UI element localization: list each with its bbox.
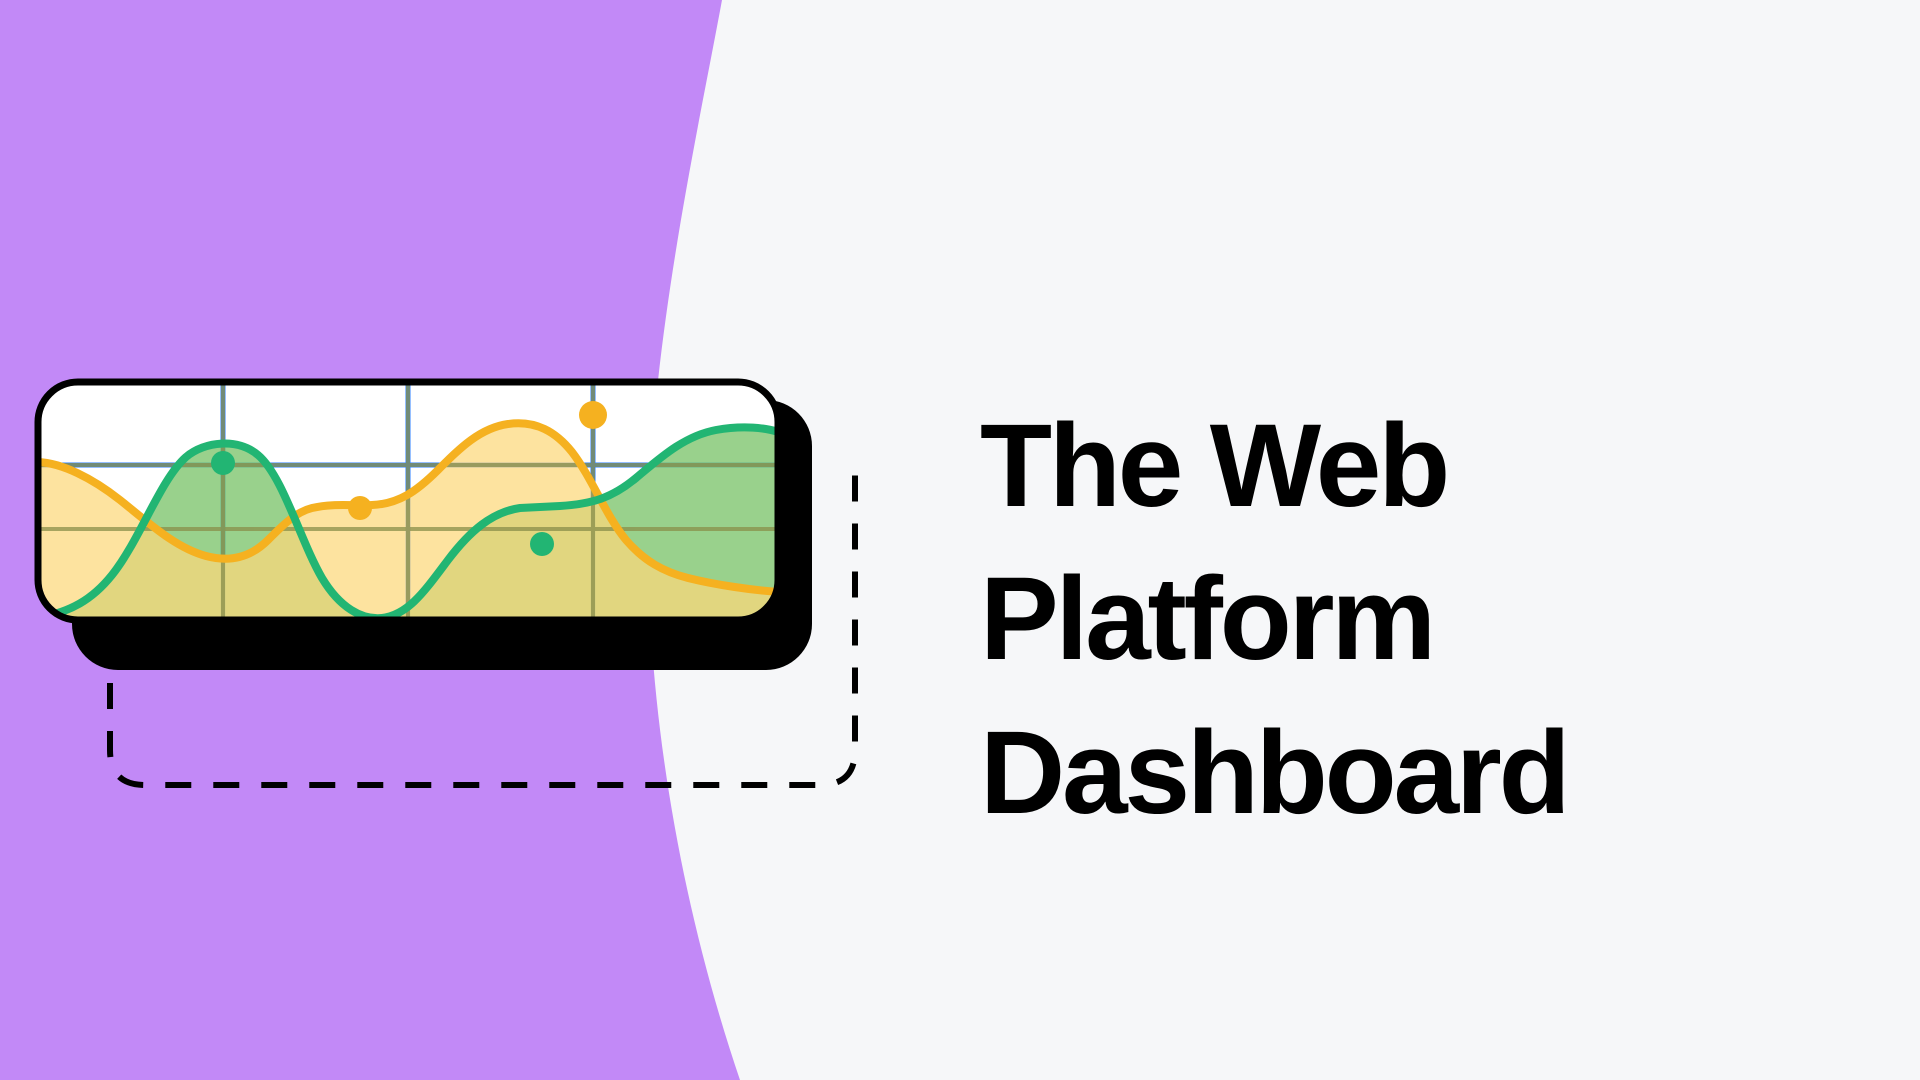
data-point-green-1 <box>211 451 235 475</box>
hero-stage: The Web Platform Dashboard <box>0 0 1920 1080</box>
page-title: The Web Platform Dashboard <box>980 390 1740 850</box>
data-point-green-2 <box>530 532 554 556</box>
page-title-line-2: Platform <box>980 543 1740 696</box>
page-title-line-1: The Web <box>980 390 1740 543</box>
page-title-line-3: Dashboard <box>980 697 1740 850</box>
data-point-orange-2 <box>579 401 607 429</box>
data-point-orange-1 <box>348 496 372 520</box>
